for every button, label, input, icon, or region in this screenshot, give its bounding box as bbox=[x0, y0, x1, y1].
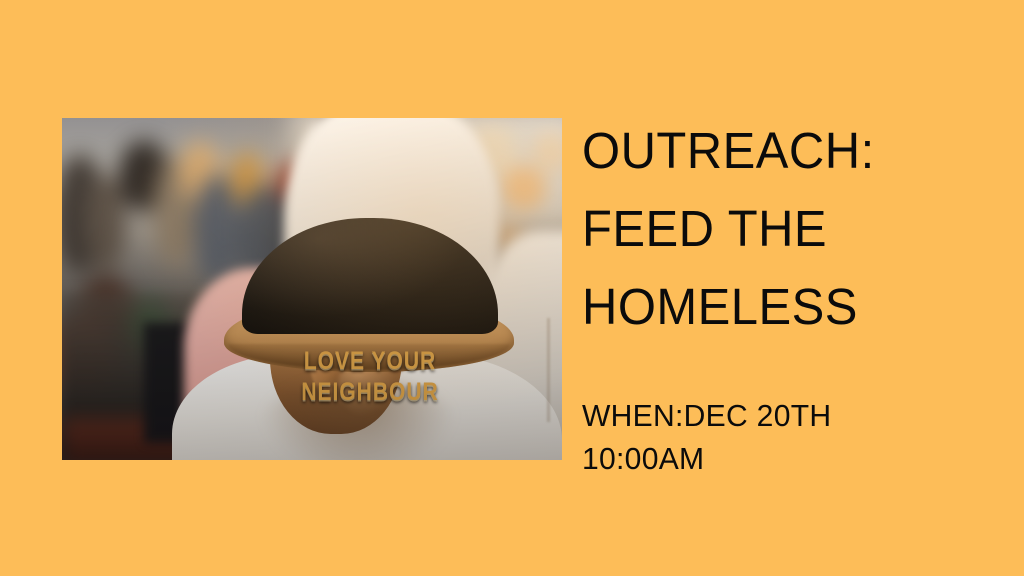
cap-seam bbox=[547, 318, 550, 422]
headline-block: OUTREACH: FEED THE HOMELESS bbox=[582, 112, 1002, 346]
cap-text-line-1: LOVE YOUR bbox=[242, 348, 498, 376]
details-line-time: 10:00AM bbox=[582, 437, 989, 480]
details-block: WHEN:DEC 20TH 10:00AM bbox=[582, 394, 1002, 480]
flyer-canvas: LOVE YOUR NEIGHBOUR OUTREACH: FEED THE H… bbox=[0, 0, 1024, 576]
cap-text-line-2: NEIGHBOUR bbox=[242, 379, 498, 407]
event-photo: LOVE YOUR NEIGHBOUR bbox=[62, 118, 562, 460]
headline-line-1: OUTREACH: bbox=[582, 112, 985, 190]
headline-line-3: HOMELESS bbox=[582, 268, 985, 346]
text-column: OUTREACH: FEED THE HOMELESS WHEN:DEC 20T… bbox=[582, 112, 1002, 480]
cap-crown: LOVE YOUR NEIGHBOUR bbox=[242, 218, 498, 334]
headline-line-2: FEED THE bbox=[582, 190, 985, 268]
details-line-when: WHEN:DEC 20TH bbox=[582, 394, 989, 437]
photo-subject: LOVE YOUR NEIGHBOUR bbox=[62, 118, 562, 460]
